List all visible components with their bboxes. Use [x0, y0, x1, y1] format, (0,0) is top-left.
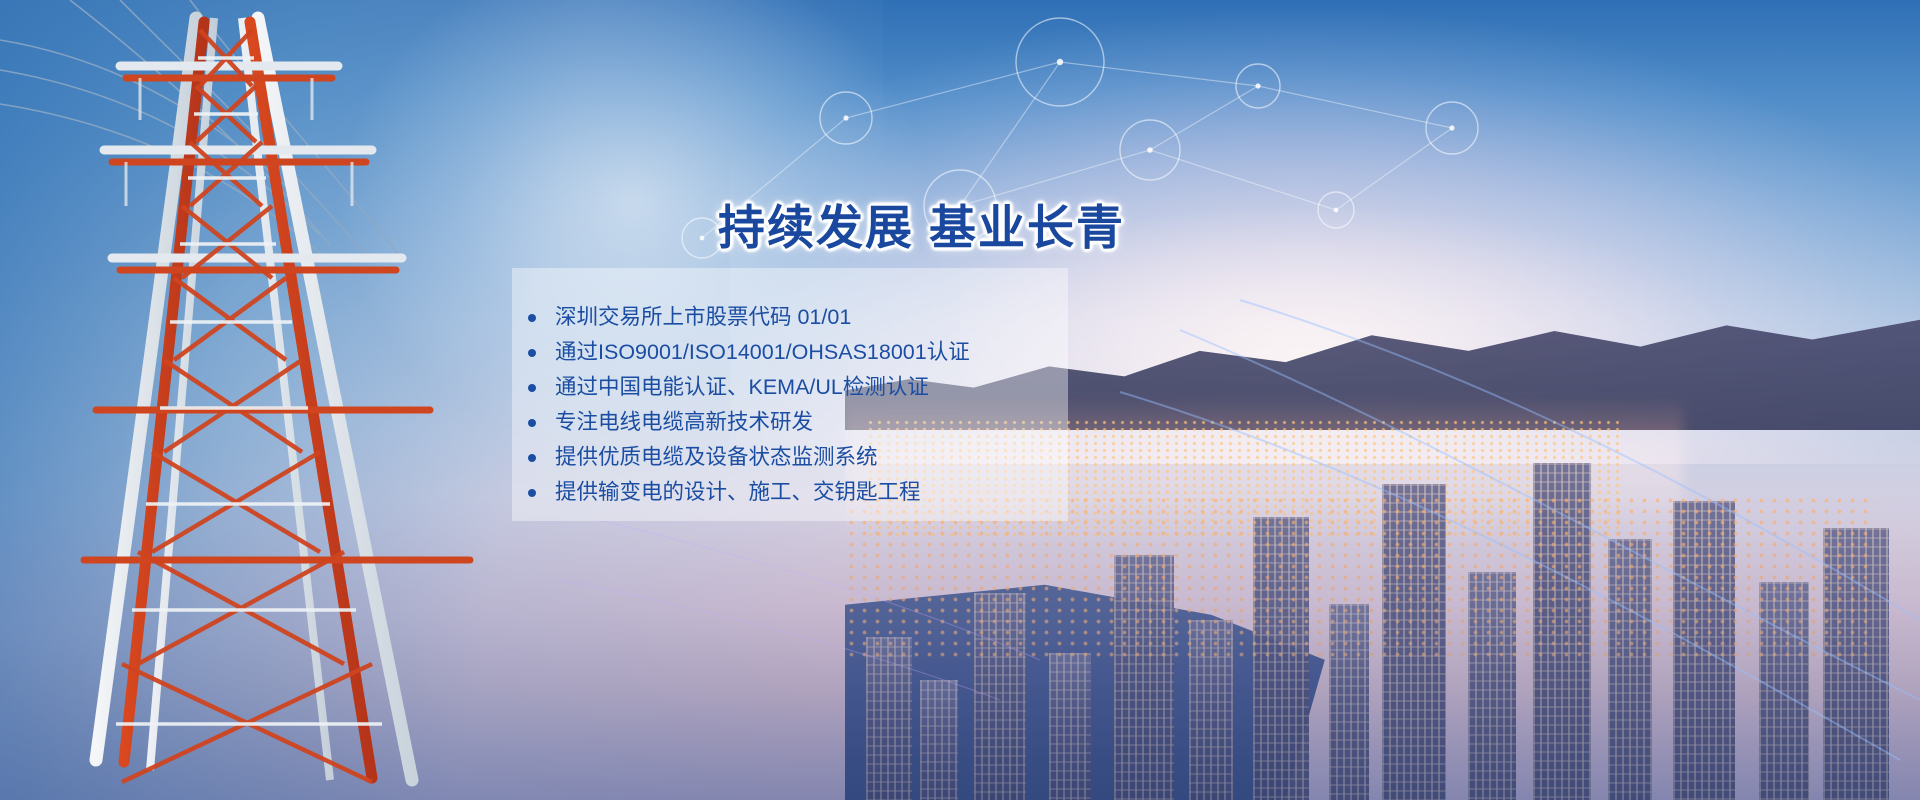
list-item-label: 专注电线电缆高新技术研发: [555, 410, 813, 434]
list-item: 深圳交易所上市股票代码 01/01: [515, 300, 1075, 335]
list-item-label: 提供输变电的设计、施工、交钥匙工程: [555, 480, 921, 504]
bullet-dot-icon: [528, 454, 536, 462]
bullet-dot-icon: [528, 419, 536, 427]
page-title: 持续发展 基业长青: [718, 196, 1148, 260]
list-item-label: 通过中国电能认证、KEMA/UL检测认证: [555, 375, 929, 399]
list-item: 通过中国电能认证、KEMA/UL检测认证: [515, 370, 1075, 405]
hero-banner: 持续发展 基业长青 深圳交易所上市股票代码 01/01 通过ISO9001/IS…: [0, 0, 1920, 800]
bullet-dot-icon: [528, 349, 536, 357]
list-item: 通过ISO9001/ISO14001/OHSAS18001认证: [515, 335, 1075, 370]
list-item: 提供输变电的设计、施工、交钥匙工程: [515, 475, 1075, 510]
bullet-dot-icon: [528, 314, 536, 322]
list-item-label: 提供优质电缆及设备状态监测系统: [555, 445, 878, 469]
list-item: 专注电线电缆高新技术研发: [515, 405, 1075, 440]
bullet-dot-icon: [528, 384, 536, 392]
feature-list: 深圳交易所上市股票代码 01/01 通过ISO9001/ISO14001/OHS…: [515, 300, 1075, 510]
bullet-dot-icon: [528, 489, 536, 497]
list-item-label: 通过ISO9001/ISO14001/OHSAS18001认证: [555, 340, 970, 364]
list-item: 提供优质电缆及设备状态监测系统: [515, 440, 1075, 475]
list-item-label: 深圳交易所上市股票代码 01/01: [555, 305, 851, 329]
